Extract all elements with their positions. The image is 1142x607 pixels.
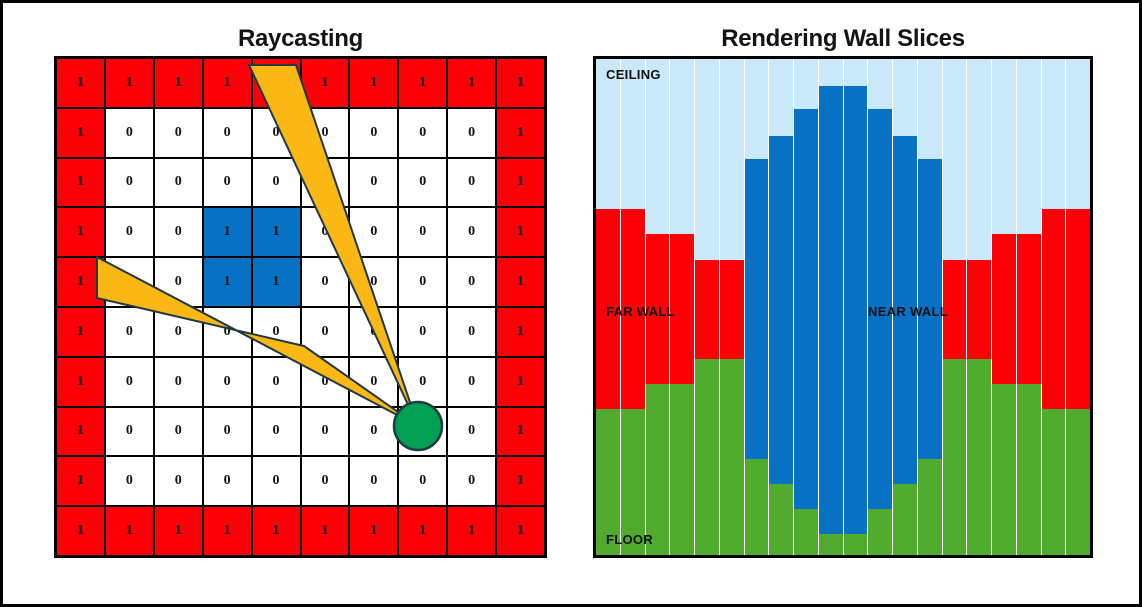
floor-segment (893, 484, 917, 555)
raycasting-demo-window: Raycasting 11111111111000000001100000000… (0, 0, 1142, 607)
map-cell-empty: 0 (349, 257, 398, 307)
map-cell-value: 0 (370, 174, 377, 190)
map-cell-value: 0 (126, 224, 133, 240)
map-cell-empty: 0 (154, 307, 203, 357)
map-cell-value: 0 (126, 174, 133, 190)
map-cell-value: 1 (126, 75, 133, 91)
map-cell-wall: 1 (496, 407, 545, 457)
map-cell-value: 0 (419, 174, 426, 190)
far-wall-slice (967, 260, 991, 359)
map-cell-empty: 0 (203, 108, 252, 158)
map-cell-value: 1 (370, 523, 377, 539)
map-cell-empty: 0 (105, 407, 154, 457)
rendering-panel-title: Rendering Wall Slices (593, 25, 1093, 53)
map-cell-value: 1 (77, 274, 84, 290)
map-cell-empty: 0 (301, 407, 350, 457)
wall-slice (819, 59, 844, 555)
map-cell-value: 0 (175, 423, 182, 439)
far-wall-slice (695, 260, 719, 359)
map-cell-value: 0 (321, 324, 328, 340)
map-cell-value: 0 (273, 473, 280, 489)
map-cell-value: 0 (175, 174, 182, 190)
near-wall-slice (769, 136, 793, 484)
wall-slice-render-panel: CEILING FAR WALL NEAR WALL FLOOR (593, 56, 1093, 558)
map-cell-wall: 1 (349, 506, 398, 556)
map-cell-value: 0 (419, 224, 426, 240)
map-cell-value: 1 (517, 224, 524, 240)
map-cell-value: 0 (224, 324, 231, 340)
map-cell-value: 0 (126, 324, 133, 340)
map-cell-empty: 0 (252, 307, 301, 357)
map-cell-empty: 0 (105, 108, 154, 158)
map-cell-value: 0 (273, 374, 280, 390)
map-cell-empty: 0 (154, 257, 203, 307)
map-cell-wall: 1 (496, 307, 545, 357)
map-cell-wall: 1 (496, 58, 545, 108)
map-cell-block: 1 (203, 207, 252, 257)
near-wall-slice (745, 159, 769, 459)
map-cell-block: 1 (252, 207, 301, 257)
map-cell-empty: 0 (252, 158, 301, 208)
map-cell-wall: 1 (56, 506, 105, 556)
map-cell-empty: 0 (301, 207, 350, 257)
map-cell-value: 0 (273, 174, 280, 190)
map-cell-value: 0 (126, 125, 133, 141)
floor-segment (720, 359, 744, 555)
map-cell-value: 1 (517, 324, 524, 340)
floor-segment (992, 384, 1016, 555)
map-cell-empty: 0 (154, 207, 203, 257)
wall-slice (720, 59, 745, 555)
map-cell-block: 1 (203, 257, 252, 307)
map-cell-value: 1 (77, 324, 84, 340)
map-cell-value: 0 (419, 324, 426, 340)
map-cell-value: 0 (419, 423, 426, 439)
map-cell-empty: 0 (447, 207, 496, 257)
map-cell-empty: 0 (398, 158, 447, 208)
floor-segment (918, 459, 942, 555)
map-cell-empty: 0 (447, 257, 496, 307)
map-cell-empty: 0 (154, 108, 203, 158)
map-cell-wall: 1 (252, 506, 301, 556)
map-cell-wall: 1 (56, 158, 105, 208)
floor-segment (868, 509, 892, 555)
map-cell-wall: 1 (496, 108, 545, 158)
map-cell-empty: 0 (301, 456, 350, 506)
map-cell-value: 0 (126, 374, 133, 390)
floor-segment (1042, 409, 1066, 555)
map-cell-value: 1 (77, 423, 84, 439)
map-cell-value: 1 (77, 374, 84, 390)
map-cell-value: 1 (175, 75, 182, 91)
map-cell-empty: 0 (349, 407, 398, 457)
raycasting-panel-title: Raycasting (54, 25, 547, 53)
map-cell-value: 1 (77, 473, 84, 489)
wall-slice (745, 59, 770, 555)
map-cell-value: 0 (175, 374, 182, 390)
wall-slice (967, 59, 992, 555)
map-cell-value: 0 (370, 324, 377, 340)
map-cell-value: 1 (321, 523, 328, 539)
map-cell-value: 1 (517, 125, 524, 141)
map-cell-value: 1 (175, 523, 182, 539)
wall-slice (794, 59, 819, 555)
wall-slice (1066, 59, 1090, 555)
map-cell-value: 0 (468, 374, 475, 390)
floor-segment (769, 484, 793, 555)
floor-segment (943, 359, 967, 555)
map-cell-empty: 0 (398, 456, 447, 506)
map-cell-wall: 1 (496, 357, 545, 407)
map-cell-value: 0 (273, 125, 280, 141)
map-cell-empty: 0 (301, 357, 350, 407)
map-cell-value: 0 (126, 473, 133, 489)
map-cell-value: 0 (321, 224, 328, 240)
wall-slice (695, 59, 720, 555)
map-cell-value: 1 (517, 473, 524, 489)
map-cell-empty: 0 (398, 307, 447, 357)
map-cell-empty: 0 (203, 357, 252, 407)
floor-segment (745, 459, 769, 555)
map-cell-empty: 0 (105, 307, 154, 357)
map-cell-empty: 0 (398, 407, 447, 457)
map-cell-wall: 1 (56, 257, 105, 307)
map-cell-value: 0 (419, 473, 426, 489)
map-cell-value: 0 (468, 473, 475, 489)
map-cell-wall: 1 (349, 58, 398, 108)
map-cell-value: 0 (419, 374, 426, 390)
map-cell-wall: 1 (105, 506, 154, 556)
map-cell-wall: 1 (203, 506, 252, 556)
far-wall-slice (1017, 234, 1041, 384)
map-cell-value: 0 (419, 125, 426, 141)
map-cell-value: 0 (468, 125, 475, 141)
map-cell-value: 0 (468, 274, 475, 290)
map-cell-wall: 1 (496, 158, 545, 208)
map-cell-value: 0 (126, 274, 133, 290)
map-cell-wall: 1 (56, 58, 105, 108)
floor-segment (1017, 384, 1041, 555)
map-cell-empty: 0 (349, 207, 398, 257)
map-cell-value: 1 (517, 374, 524, 390)
map-cell-wall: 1 (301, 506, 350, 556)
map-cell-wall: 1 (56, 307, 105, 357)
map-cell-value: 1 (77, 75, 84, 91)
near-wall-slice (844, 86, 868, 534)
map-cell-value: 0 (321, 174, 328, 190)
near-wall-label: NEAR WALL (868, 304, 948, 319)
map-cell-value: 0 (370, 274, 377, 290)
map-cell-value: 1 (224, 224, 231, 240)
map-cell-empty: 0 (301, 307, 350, 357)
map-cell-value: 1 (224, 274, 231, 290)
floor-segment (967, 359, 991, 555)
map-cell-empty: 0 (252, 407, 301, 457)
map-cell-value: 0 (175, 224, 182, 240)
map-cell-empty: 0 (349, 158, 398, 208)
map-cell-value: 0 (370, 423, 377, 439)
map-cell-value: 1 (517, 274, 524, 290)
map-cell-wall: 1 (56, 108, 105, 158)
map-cell-wall: 1 (496, 207, 545, 257)
far-wall-slice (720, 260, 744, 359)
map-cell-wall: 1 (203, 58, 252, 108)
map-cell-wall: 1 (398, 58, 447, 108)
map-cell-value: 1 (77, 174, 84, 190)
map-cell-value: 1 (517, 75, 524, 91)
map-cell-empty: 0 (105, 357, 154, 407)
map-cell-empty: 0 (447, 357, 496, 407)
wall-slice (1042, 59, 1067, 555)
map-cell-empty: 0 (447, 456, 496, 506)
map-cell-value: 0 (321, 274, 328, 290)
map-cell-wall: 1 (398, 506, 447, 556)
map-cell-value: 1 (419, 523, 426, 539)
map-cell-value: 1 (273, 274, 280, 290)
floor-segment (695, 359, 719, 555)
floor-segment (819, 534, 843, 555)
map-cell-wall: 1 (496, 456, 545, 506)
map-cell-value: 1 (273, 523, 280, 539)
map-cell-value: 1 (77, 523, 84, 539)
map-cell-value: 0 (468, 224, 475, 240)
map-cell-value: 0 (224, 374, 231, 390)
map-cell-empty: 0 (105, 158, 154, 208)
map-cell-empty: 0 (447, 158, 496, 208)
map-cell-empty: 0 (398, 257, 447, 307)
map-cell-value: 0 (419, 274, 426, 290)
map-cell-empty: 0 (154, 456, 203, 506)
far-wall-slice (1042, 209, 1066, 409)
map-cell-value: 0 (224, 473, 231, 489)
map-cell-value: 1 (517, 423, 524, 439)
map-cell-value: 1 (468, 523, 475, 539)
wall-slice (1017, 59, 1042, 555)
map-cell-value: 0 (273, 324, 280, 340)
map-cell-wall: 1 (301, 58, 350, 108)
map-cell-value: 1 (77, 224, 84, 240)
floor-segment (1066, 409, 1090, 555)
raycasting-map-panel: 1111111111100000000110000000011001100001… (54, 56, 547, 558)
map-cell-empty: 0 (105, 456, 154, 506)
map-cell-empty: 0 (105, 207, 154, 257)
far-wall-slice (1066, 209, 1090, 409)
map-cell-value: 0 (175, 324, 182, 340)
wall-slice (992, 59, 1017, 555)
map-cell-wall: 1 (447, 506, 496, 556)
map-cell-empty: 0 (203, 307, 252, 357)
map-cell-wall: 1 (447, 58, 496, 108)
map-cell-value: 0 (370, 125, 377, 141)
map-grid: 1111111111100000000110000000011001100001… (54, 56, 547, 558)
map-cell-value: 0 (175, 125, 182, 141)
map-cell-empty: 0 (301, 257, 350, 307)
map-cell-value: 0 (175, 274, 182, 290)
map-cell-empty: 0 (349, 357, 398, 407)
map-cell-value: 1 (517, 174, 524, 190)
map-cell-value: 0 (370, 374, 377, 390)
map-cell-empty: 0 (252, 108, 301, 158)
map-cell-value: 0 (370, 224, 377, 240)
map-cell-value: 1 (126, 523, 133, 539)
map-cell-value: 1 (224, 75, 231, 91)
map-cell-value: 1 (321, 75, 328, 91)
map-cell-wall: 1 (154, 58, 203, 108)
map-cell-value: 0 (321, 473, 328, 489)
map-cell-empty: 0 (154, 158, 203, 208)
map-cell-empty: 0 (301, 158, 350, 208)
map-cell-empty: 0 (349, 456, 398, 506)
map-cell-empty: 0 (349, 108, 398, 158)
map-cell-empty: 0 (252, 456, 301, 506)
map-cell-empty: 0 (447, 108, 496, 158)
map-cell-wall: 1 (252, 58, 301, 108)
map-cell-wall: 1 (154, 506, 203, 556)
map-cell-value: 0 (468, 423, 475, 439)
map-cell-empty: 0 (398, 108, 447, 158)
map-cell-value: 0 (224, 174, 231, 190)
far-wall-slice (992, 234, 1016, 384)
map-cell-value: 1 (419, 75, 426, 91)
map-cell-value: 1 (224, 523, 231, 539)
floor-label: FLOOR (606, 532, 653, 547)
map-cell-empty: 0 (203, 158, 252, 208)
floor-segment (646, 384, 670, 555)
wall-slice (769, 59, 794, 555)
map-cell-empty: 0 (447, 407, 496, 457)
map-cell-value: 0 (224, 423, 231, 439)
map-cell-value: 1 (273, 224, 280, 240)
map-cell-value: 0 (468, 174, 475, 190)
map-cell-value: 0 (321, 423, 328, 439)
map-cell-empty: 0 (252, 357, 301, 407)
map-cell-value: 1 (517, 523, 524, 539)
floor-segment (844, 534, 868, 555)
map-cell-empty: 0 (105, 257, 154, 307)
floor-segment (670, 384, 694, 555)
map-cell-value: 0 (126, 423, 133, 439)
map-cell-value: 0 (321, 125, 328, 141)
map-cell-block: 1 (252, 257, 301, 307)
map-cell-wall: 1 (56, 357, 105, 407)
map-cell-wall: 1 (56, 407, 105, 457)
map-cell-wall: 1 (56, 456, 105, 506)
map-cell-wall: 1 (496, 257, 545, 307)
map-cell-wall: 1 (56, 207, 105, 257)
map-cell-value: 0 (175, 473, 182, 489)
map-cell-value: 1 (273, 75, 280, 91)
map-cell-wall: 1 (105, 58, 154, 108)
map-cell-empty: 0 (398, 207, 447, 257)
map-cell-wall: 1 (496, 506, 545, 556)
map-cell-empty: 0 (398, 357, 447, 407)
map-cell-value: 0 (321, 374, 328, 390)
map-cell-value: 0 (370, 473, 377, 489)
map-cell-value: 1 (370, 75, 377, 91)
map-cell-value: 1 (77, 125, 84, 141)
wall-slice (844, 59, 869, 555)
map-cell-empty: 0 (447, 307, 496, 357)
far-wall-label: FAR WALL (606, 304, 675, 319)
map-cell-empty: 0 (203, 407, 252, 457)
near-wall-slice (794, 109, 818, 509)
map-cell-empty: 0 (301, 108, 350, 158)
near-wall-slice (819, 86, 843, 534)
map-cell-empty: 0 (203, 456, 252, 506)
map-cell-empty: 0 (154, 357, 203, 407)
map-cell-empty: 0 (154, 407, 203, 457)
map-cell-value: 1 (468, 75, 475, 91)
ceiling-label: CEILING (606, 67, 661, 82)
map-cell-empty: 0 (349, 307, 398, 357)
floor-segment (794, 509, 818, 555)
map-cell-value: 0 (273, 423, 280, 439)
map-cell-value: 0 (224, 125, 231, 141)
map-cell-value: 0 (468, 324, 475, 340)
